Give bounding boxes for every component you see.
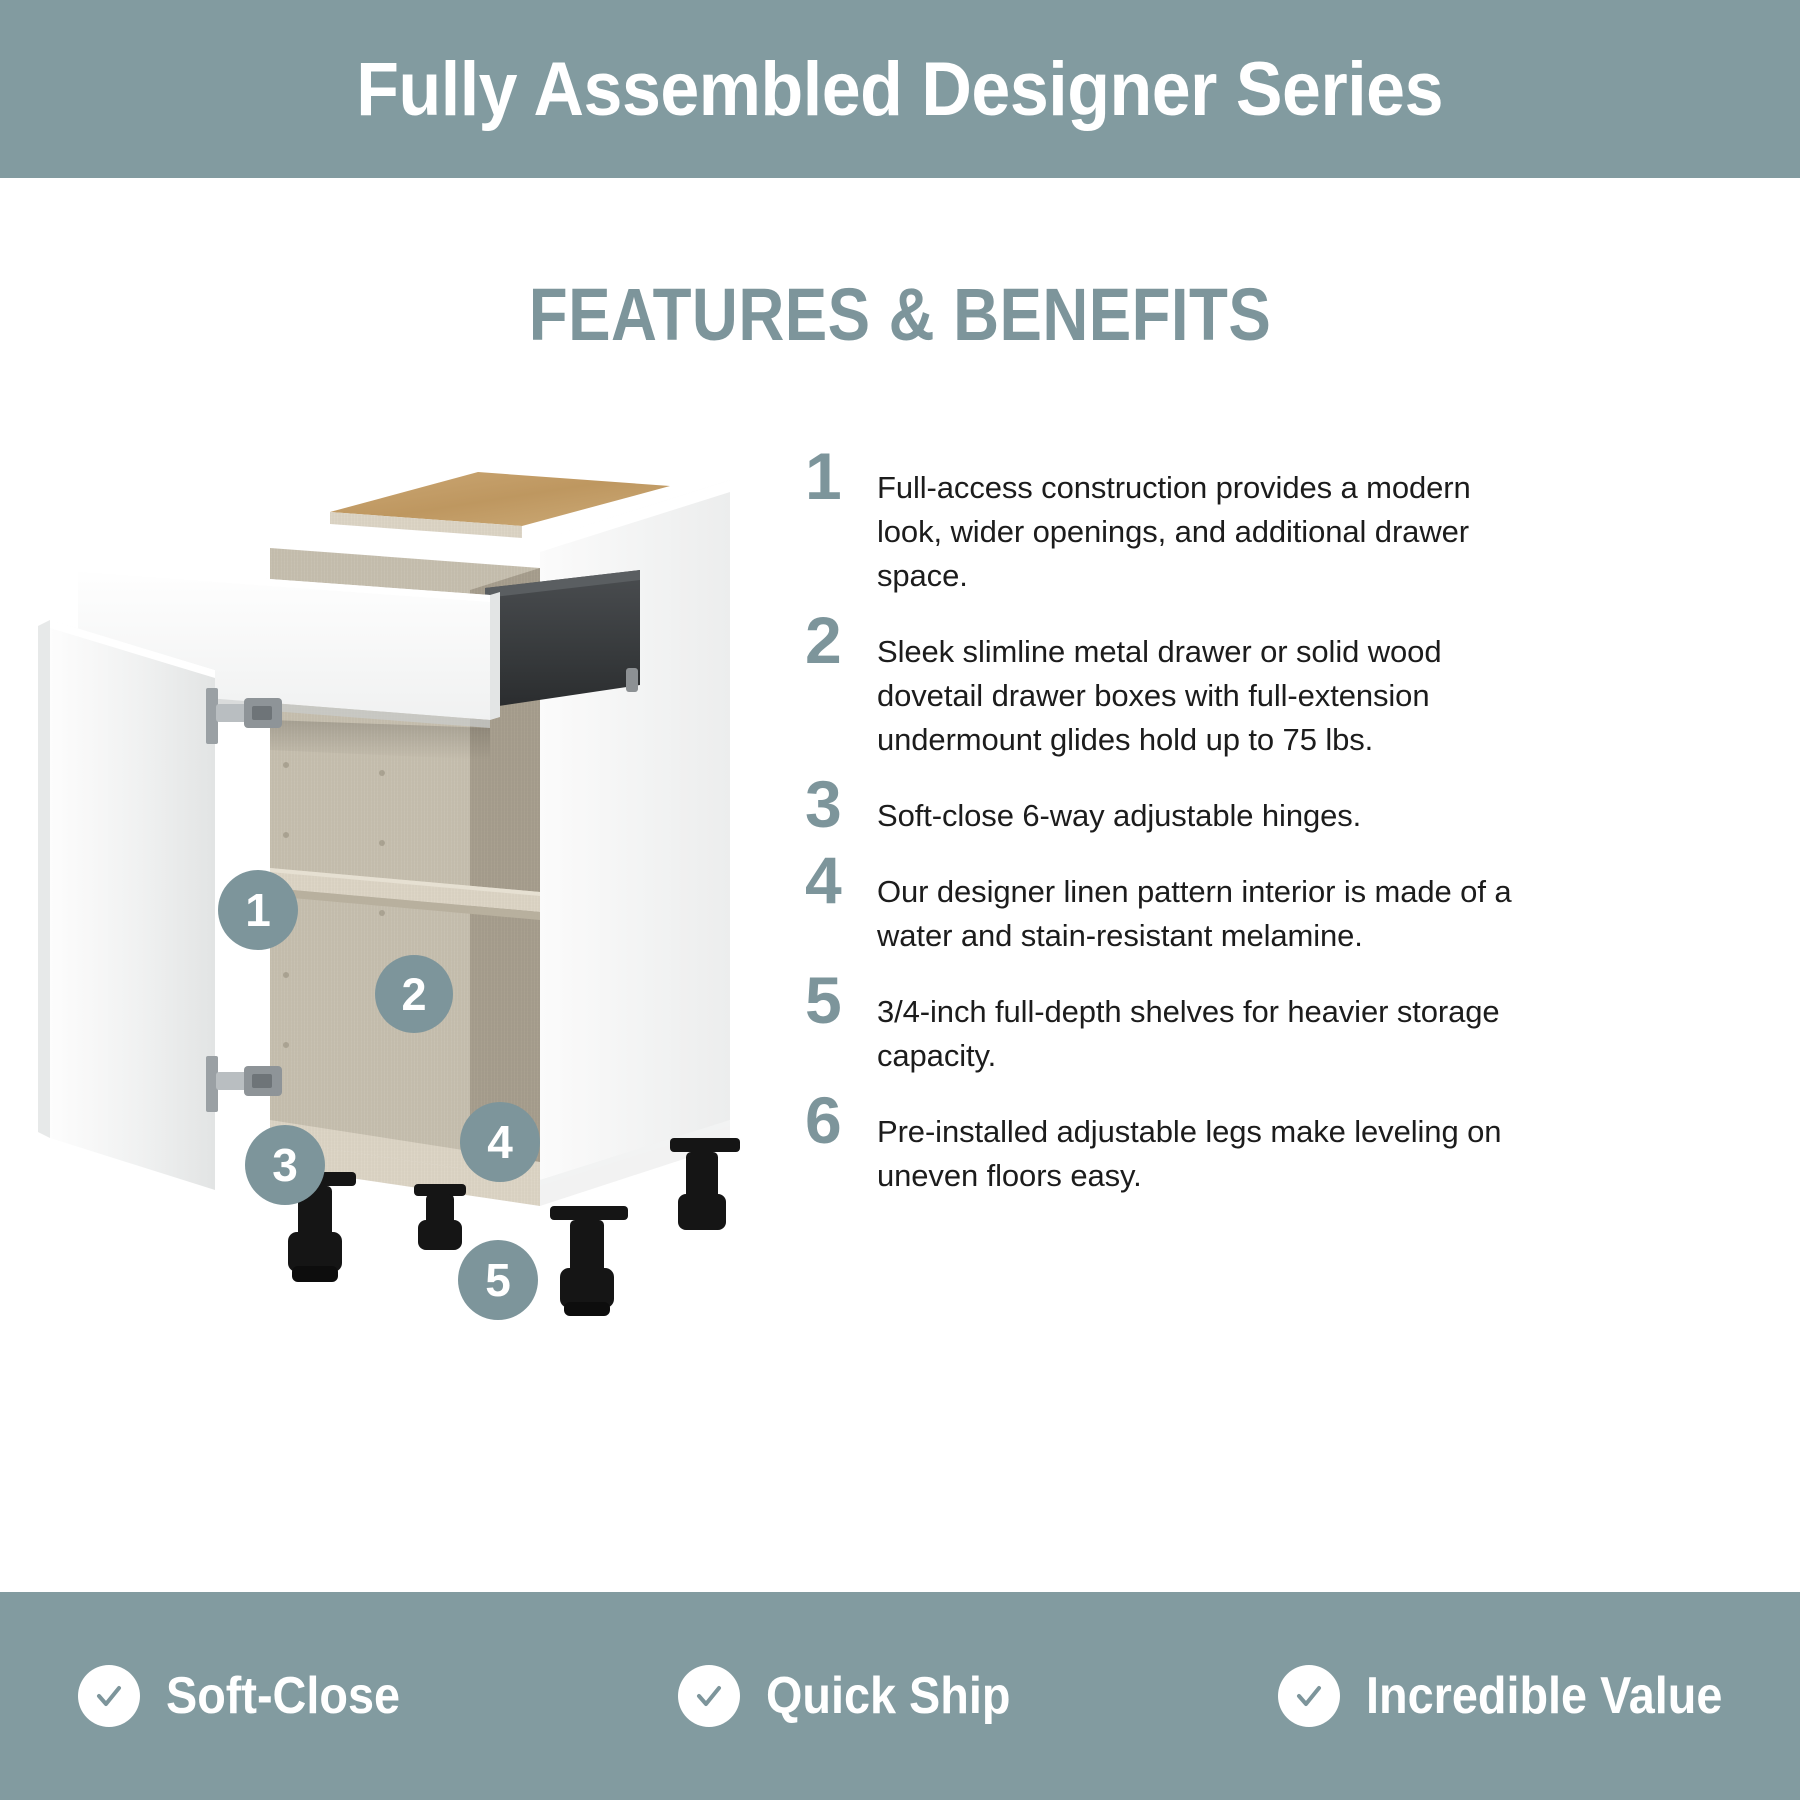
feature-number: 6 [805, 1090, 877, 1151]
feature-description: Our designer linen pattern interior is m… [877, 856, 1525, 958]
callout-badge-3[interactable]: 3 [245, 1125, 325, 1205]
footer-bar: Soft-Close Quick Ship Incredible Value [0, 1592, 1800, 1800]
metal-drawer-box [485, 570, 640, 708]
feature-item: 3 Soft-close 6-way adjustable hinges. [805, 780, 1525, 838]
footer-badge-label: Quick Ship [766, 1666, 1010, 1726]
page-title: Fully Assembled Designer Series [357, 46, 1444, 133]
feature-number: 3 [805, 774, 877, 835]
callout-badge-4[interactable]: 4 [460, 1102, 540, 1182]
feature-description: Sleek slimline metal drawer or solid woo… [877, 616, 1525, 762]
callout-badge-5[interactable]: 5 [458, 1240, 538, 1320]
features-list: 1 Full-access construction provides a mo… [805, 452, 1525, 1216]
section-heading: FEATURES & BENEFITS [126, 272, 1674, 357]
feature-description: Pre-installed adjustable legs make level… [877, 1096, 1525, 1198]
footer-badge-quick-ship: Quick Ship [600, 1665, 1200, 1727]
check-circle-icon [678, 1665, 740, 1727]
callout-badge-1[interactable]: 1 [218, 870, 298, 950]
feature-item: 2 Sleek slimline metal drawer or solid w… [805, 616, 1525, 762]
footer-badge-label: Soft-Close [166, 1666, 400, 1726]
check-circle-icon [1278, 1665, 1340, 1727]
callout-badge-2[interactable]: 2 [375, 955, 453, 1033]
feature-description: Soft-close 6-way adjustable hinges. [877, 780, 1525, 838]
header-bar: Fully Assembled Designer Series [0, 0, 1800, 178]
footer-badge-incredible-value: Incredible Value [1200, 1665, 1800, 1727]
cabinet-door [38, 620, 215, 1190]
feature-number: 2 [805, 610, 877, 671]
feature-number: 4 [805, 850, 877, 911]
feature-item: 1 Full-access construction provides a mo… [805, 452, 1525, 598]
cabinet-illustration [30, 420, 810, 1320]
product-image: 1 2 3 4 5 6 [30, 420, 810, 1320]
feature-description: 3/4-inch full-depth shelves for heavier … [877, 976, 1525, 1078]
feature-number: 5 [805, 970, 877, 1031]
feature-item: 5 3/4-inch full-depth shelves for heavie… [805, 976, 1525, 1078]
footer-badge-label: Incredible Value [1366, 1666, 1722, 1726]
feature-number: 1 [805, 446, 877, 507]
check-circle-icon [78, 1665, 140, 1727]
feature-item: 4 Our designer linen pattern interior is… [805, 856, 1525, 958]
feature-item: 6 Pre-installed adjustable legs make lev… [805, 1096, 1525, 1198]
feature-description: Full-access construction provides a mode… [877, 452, 1525, 598]
footer-badge-soft-close: Soft-Close [0, 1665, 600, 1727]
